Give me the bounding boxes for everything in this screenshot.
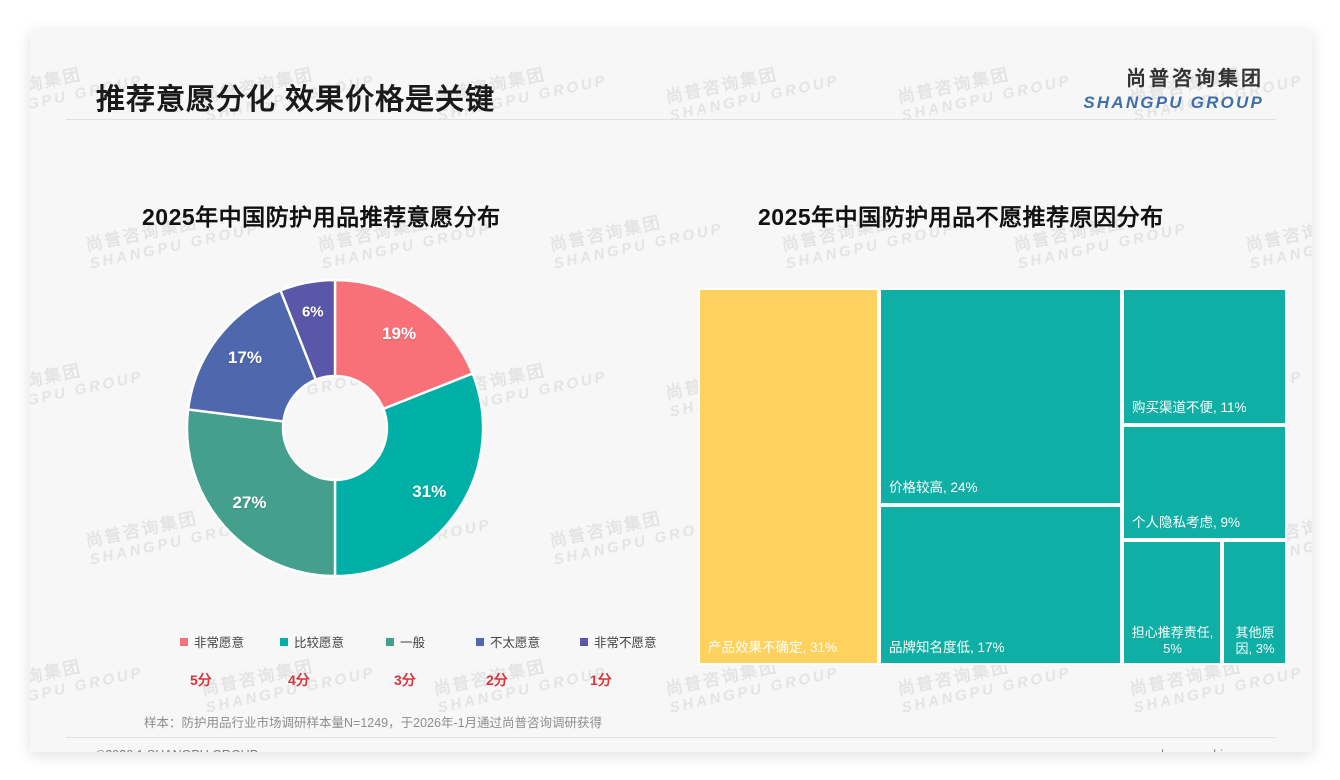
donut-slice-label: 31% (412, 482, 446, 502)
donut-slice-label: 6% (302, 303, 324, 320)
donut-slice-label: 19% (382, 324, 416, 344)
donut-legend: 非常愿意比较愿意一般不太愿意非常不愿意 (180, 632, 690, 650)
legend-swatch-icon (180, 638, 188, 646)
legend-label: 比较愿意 (294, 632, 344, 651)
donut-slice-label: 27% (232, 493, 266, 513)
left-chart-title: 2025年中国防护用品推荐意愿分布 (142, 198, 501, 232)
treemap-cell-label: 购买渠道不便, 11% (1132, 400, 1279, 417)
treemap-cell[interactable]: 价格较高, 24% (879, 288, 1122, 505)
legend-swatch-icon (580, 638, 588, 646)
score-label: 3分 (394, 670, 416, 690)
treemap-cell-label: 品牌知名度低, 17% (889, 640, 1114, 657)
treemap-cell-label: 产品效果不确定, 31% (708, 640, 871, 657)
legend-item[interactable]: 非常不愿意 (580, 632, 657, 651)
right-chart-title: 2025年中国防护用品不愿推荐原因分布 (758, 198, 1164, 232)
treemap-cell[interactable]: 担心推荐责任, 5% (1122, 540, 1222, 665)
legend-item[interactable]: 非常愿意 (180, 632, 244, 651)
score-label: 2分 (486, 670, 508, 690)
header-divider (66, 119, 1276, 120)
legend-item[interactable]: 比较愿意 (280, 632, 344, 651)
legend-swatch-icon (386, 638, 394, 646)
treemap-cell[interactable]: 个人隐私考虑, 9% (1122, 425, 1287, 540)
legend-item[interactable]: 一般 (386, 632, 425, 651)
donut-svg (185, 278, 485, 578)
footer-website: www.shangpu-china.com (1125, 748, 1264, 752)
donut-score-row: 5分4分3分2分1分 (180, 670, 690, 690)
legend-item[interactable]: 不太愿意 (476, 632, 540, 651)
legend-swatch-icon (280, 638, 288, 646)
footer-copyright: ©2026.1 SHANGPU GROUP (96, 748, 258, 752)
slide-header: 推荐意愿分化 效果价格是关键 尚普咨询集团 SHANGPU GROUP (30, 30, 1312, 120)
treemap-cell-label: 其他原因, 3% (1230, 625, 1280, 658)
logo-english-text: SHANGPU GROUP (1083, 93, 1264, 113)
treemap-cell-label: 担心推荐责任, 5% (1130, 625, 1215, 658)
watermark-text: 尚普咨询集团SHANGPU GROUP (548, 200, 725, 273)
treemap-chart: 产品效果不确定, 31%价格较高, 24%品牌知名度低, 17%购买渠道不便, … (698, 288, 1287, 665)
slide-canvas: 尚普咨询集团SHANGPU GROUP尚普咨询集团SHANGPU GROUP尚普… (30, 30, 1312, 752)
footer-divider (66, 737, 1276, 738)
treemap-cell[interactable]: 其他原因, 3% (1222, 540, 1287, 665)
treemap-cell-label: 个人隐私考虑, 9% (1132, 515, 1279, 532)
score-label: 1分 (590, 670, 612, 690)
watermark-text: 尚普咨询集团SHANGPU GROUP (30, 348, 145, 421)
legend-label: 非常不愿意 (594, 632, 657, 651)
sample-footnote: 样本：防护用品行业市场调研样本量N=1249，于2026年-1月通过尚普咨询调研… (144, 712, 602, 731)
watermark-text: 尚普咨询集团SHANGPU GROUP (1244, 200, 1312, 273)
treemap-cell[interactable]: 购买渠道不便, 11% (1122, 288, 1287, 425)
legend-label: 非常愿意 (194, 632, 244, 651)
watermark-text: 尚普咨询集团SHANGPU GROUP (30, 644, 145, 717)
treemap-cell-label: 价格较高, 24% (889, 480, 1114, 497)
legend-label: 不太愿意 (490, 632, 540, 651)
page-title: 推荐意愿分化 效果价格是关键 (96, 76, 495, 118)
donut-chart: 19%31%27%17%6% (185, 278, 485, 578)
treemap-cell[interactable]: 品牌知名度低, 17% (879, 505, 1122, 665)
score-label: 5分 (190, 670, 212, 690)
legend-label: 一般 (400, 632, 425, 651)
legend-swatch-icon (476, 638, 484, 646)
donut-slice[interactable] (335, 374, 483, 576)
donut-slice-label: 17% (228, 348, 262, 368)
treemap-cell[interactable]: 产品效果不确定, 31% (698, 288, 879, 665)
logo-chinese-text: 尚普咨询集团 (1083, 62, 1264, 91)
score-label: 4分 (288, 670, 310, 690)
brand-logo: 尚普咨询集团 SHANGPU GROUP (1083, 62, 1264, 113)
